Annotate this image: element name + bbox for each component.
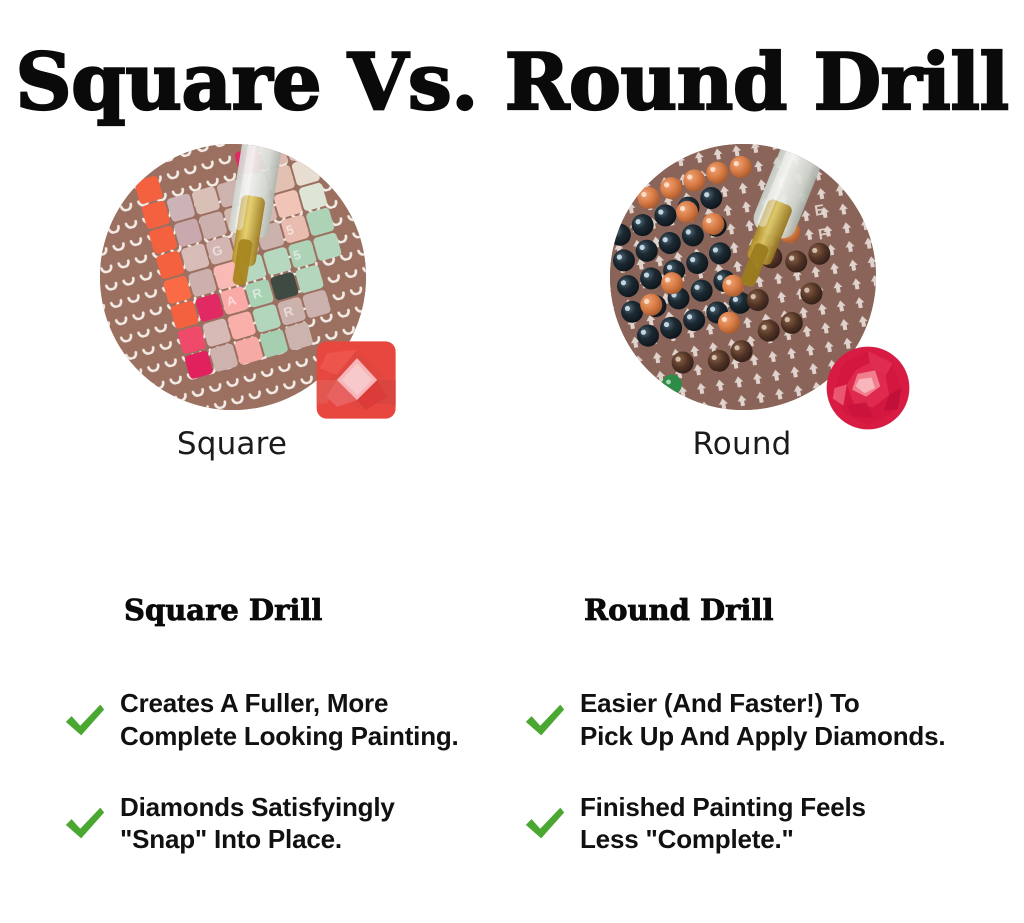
photo-caption-round: Round: [572, 426, 912, 462]
comparison-columns: Square Drill Creates A Fuller, More Comp…: [0, 596, 1024, 916]
list-item: Easier (And Faster!) To Pick Up And Appl…: [522, 687, 992, 753]
list-item-label: Finished Painting Feels Less "Complete.": [580, 791, 866, 857]
photo-cell-round: E F: [572, 144, 912, 444]
list-item: Creates A Fuller, More Complete Looking …: [62, 687, 532, 753]
list-item: Diamonds Satisfyingly "Snap" Into Place.: [62, 791, 532, 857]
photo-cell-square: G A A R R 5 5: [62, 144, 402, 444]
check-icon: [522, 800, 568, 846]
check-icon: [522, 697, 568, 743]
check-icon: [62, 800, 108, 846]
list-item: Finished Painting Feels Less "Complete.": [522, 791, 992, 857]
bullet-list-round-drill: Easier (And Faster!) To Pick Up And Appl…: [522, 687, 992, 856]
photo-comparison-row: G A A R R 5 5: [0, 144, 1024, 444]
title-bar: Square Vs. Round Drill: [0, 0, 1024, 122]
page-title: Square Vs. Round Drill: [0, 44, 1024, 122]
round-gem: [824, 344, 912, 432]
list-item-label: Diamonds Satisfyingly "Snap" Into Place.: [120, 791, 395, 857]
list-item-label: Easier (And Faster!) To Pick Up And Appl…: [580, 687, 945, 753]
square-gem: [314, 338, 400, 422]
list-item-label: Creates A Fuller, More Complete Looking …: [120, 687, 459, 753]
column-heading-round-drill: Round Drill: [584, 596, 992, 625]
photo-caption-square: Square: [62, 426, 402, 462]
column-heading-square-drill: Square Drill: [124, 596, 532, 625]
column-square-drill: Square Drill Creates A Fuller, More Comp…: [62, 596, 532, 894]
check-icon: [62, 697, 108, 743]
column-round-drill: Round Drill Easier (And Faster!) To Pick…: [522, 596, 992, 894]
bullet-list-square-drill: Creates A Fuller, More Complete Looking …: [62, 687, 532, 856]
